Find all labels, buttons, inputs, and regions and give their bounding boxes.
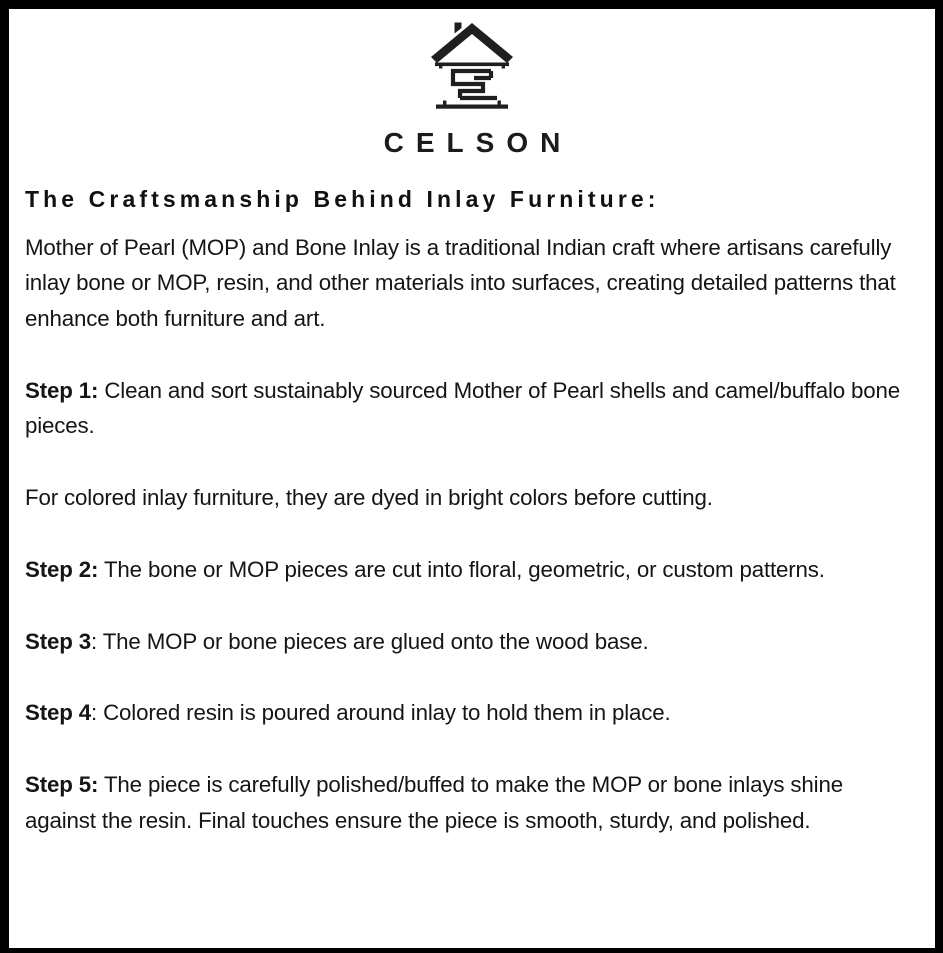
step-label-3: Step 2: <box>25 557 98 582</box>
house-monogram-logo-icon <box>427 17 517 115</box>
brand-block: CELSON <box>17 13 927 157</box>
intro-paragraph: Mother of Pearl (MOP) and Bone Inlay is … <box>25 230 918 337</box>
step-label-6: Step 5: <box>25 772 98 797</box>
poster-card: CELSON The Craftsmanship Behind Inlay Fu… <box>0 0 943 953</box>
step-paragraph-2: For colored inlay furniture, they are dy… <box>25 480 918 516</box>
step-paragraph-3: Step 2: The bone or MOP pieces are cut i… <box>25 552 918 588</box>
step-label-4: Step 3 <box>25 629 91 654</box>
step-label-1: Step 1: <box>25 378 98 403</box>
step-text-6: The piece is carefully polished/buffed t… <box>25 772 843 833</box>
step-paragraph-4: Step 3: The MOP or bone pieces are glued… <box>25 624 918 660</box>
brand-wordmark: CELSON <box>17 129 927 157</box>
step-paragraph-5: Step 4: Colored resin is poured around i… <box>25 695 918 731</box>
step-text-1: Clean and sort sustainably sourced Mothe… <box>25 378 900 439</box>
step-text-2: For colored inlay furniture, they are dy… <box>25 485 713 510</box>
step-text-4: The MOP or bone pieces are glued onto th… <box>97 629 649 654</box>
step-text-3: The bone or MOP pieces are cut into flor… <box>98 557 825 582</box>
step-paragraph-1: Step 1: Clean and sort sustainably sourc… <box>25 373 918 444</box>
step-paragraph-6: Step 5: The piece is carefully polished/… <box>25 767 918 838</box>
body-copy: Mother of Pearl (MOP) and Bone Inlay is … <box>25 214 927 839</box>
step-text-5: Colored resin is poured around inlay to … <box>97 700 671 725</box>
page-title: The Craftsmanship Behind Inlay Furniture… <box>25 186 927 214</box>
poster-inner: CELSON The Craftsmanship Behind Inlay Fu… <box>9 9 935 948</box>
step-label-5: Step 4 <box>25 700 91 725</box>
